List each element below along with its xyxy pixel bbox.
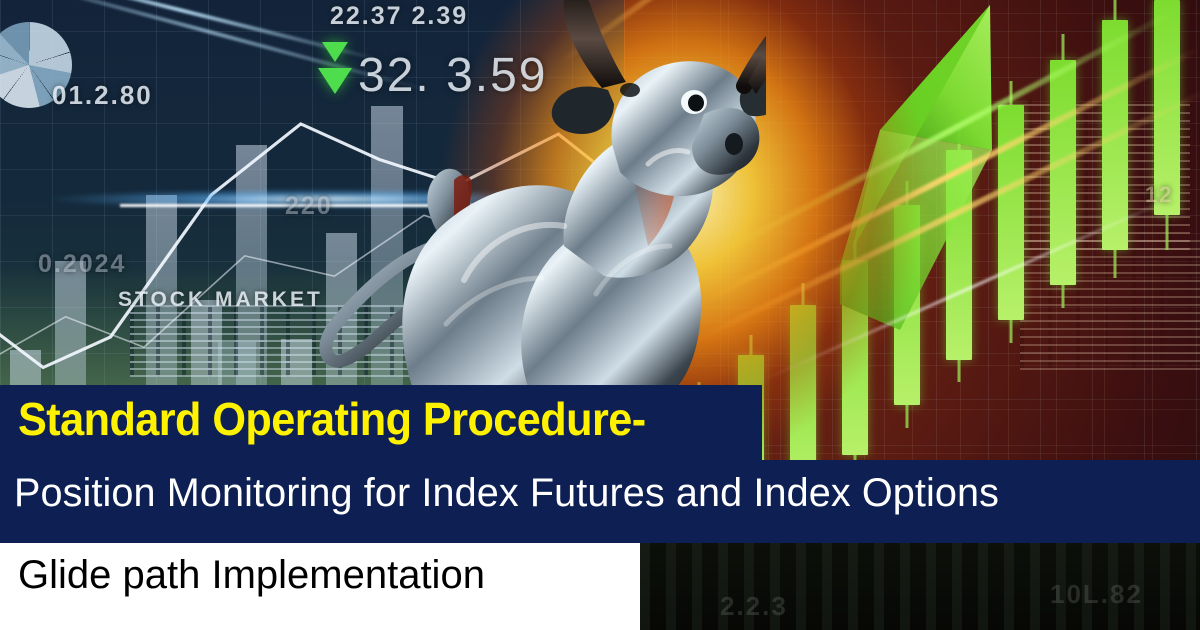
ticker-label-10l82: 10L.82 <box>1050 579 1143 610</box>
ticker-label-12: 12 <box>1145 182 1173 208</box>
down-chevron-icon-2 <box>318 68 352 94</box>
page-title-text: Standard Operating Procedure <box>18 393 632 445</box>
ticker-label-2237: 22.37 2.39 <box>330 2 468 31</box>
ticker-label-32359: 32. 3.59 <box>358 48 547 103</box>
ticker-label-misc: ㅤ <box>48 180 60 199</box>
ticker-label-223: 2.2.3 <box>720 591 788 622</box>
down-chevron-icon-1 <box>322 42 348 62</box>
page-footer-line: Glide path Implementation <box>18 553 485 598</box>
stock-market-label: STOCK MARKET <box>118 288 323 312</box>
ticker-label-02024: 0.2024 <box>38 250 126 279</box>
bottom-dark-panel: 2.2.3 10L.82 <box>640 543 1200 630</box>
page-title: Standard Operating Procedure- <box>18 392 646 446</box>
ticker-label-01280: 01.2.80 <box>52 80 153 111</box>
page-subtitle: Position Monitoring for Index Futures an… <box>14 471 999 516</box>
ticker-label-220: 220 <box>285 192 333 221</box>
poster-canvas: 01.2.80 0.2024 STOCK MARKET 220 22.37 2.… <box>0 0 1200 630</box>
page-title-dash: - <box>632 393 646 445</box>
